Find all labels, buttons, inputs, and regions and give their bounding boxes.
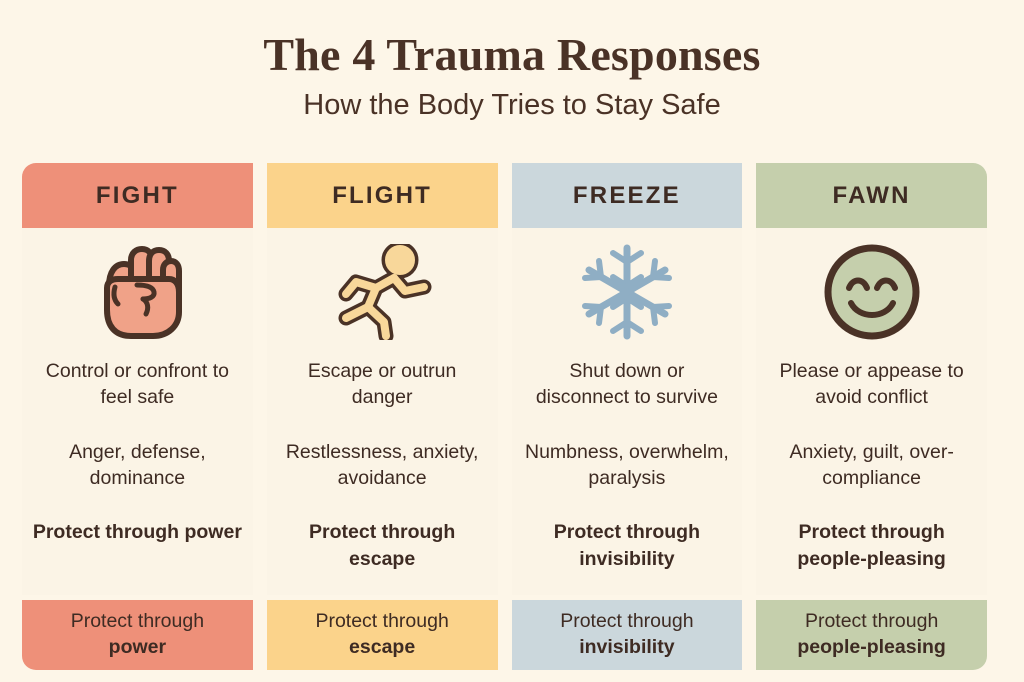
description-fawn: Please or appease to avoid conflict: [766, 358, 977, 411]
snowflake-icon: [577, 228, 677, 356]
footer-key-fight: power: [109, 635, 166, 661]
symptoms-fawn: Anxiety, guilt, over-compliance: [766, 439, 977, 492]
column-header-flight: FLIGHT: [267, 163, 498, 228]
description-flight: Escape or outrun danger: [277, 358, 488, 411]
protect-statement-fight: Protect through power: [33, 519, 242, 545]
footer-lead-flight: Protect through: [315, 609, 448, 635]
footer-key-fawn: people-pleasing: [797, 635, 945, 661]
column-freeze: FREEZE: [512, 163, 743, 670]
trauma-response-columns: FIGHT Con: [22, 163, 987, 670]
protect-statement-freeze: Protect through invisibility: [522, 519, 733, 572]
footer-key-flight: escape: [349, 635, 415, 661]
raised-fist-icon: [91, 228, 183, 356]
column-fawn: FAWN Please or appease to avoid conflict…: [756, 163, 987, 670]
column-header-fawn: FAWN: [756, 163, 987, 228]
column-flight: FLIGHT: [267, 163, 498, 670]
column-fight: FIGHT Con: [22, 163, 253, 670]
running-person-icon: [332, 228, 432, 356]
description-freeze: Shut down or disconnect to survive: [522, 358, 733, 411]
column-footer-flight: Protect through escape: [267, 600, 498, 670]
column-header-fight: FIGHT: [22, 163, 253, 228]
footer-lead-freeze: Protect through: [560, 609, 693, 635]
footer-key-freeze: invisibility: [579, 635, 674, 661]
infographic-header: The 4 Trauma Responses How the Body Trie…: [0, 0, 1024, 122]
description-fight: Control or confront to feel safe: [32, 358, 243, 411]
footer-lead-fawn: Protect through: [805, 609, 938, 635]
column-footer-fight: Protect through power: [22, 600, 253, 670]
column-body-fight: Control or confront to feel safe Anger, …: [22, 228, 253, 595]
smiling-face-icon: [821, 228, 923, 356]
page-title: The 4 Trauma Responses: [0, 0, 1024, 80]
symptoms-fight: Anger, defense, dominance: [32, 439, 243, 492]
column-body-fawn: Please or appease to avoid conflict Anxi…: [756, 228, 987, 595]
protect-statement-flight: Protect through escape: [277, 519, 488, 572]
column-header-freeze: FREEZE: [512, 163, 743, 228]
symptoms-flight: Restlessness, anxiety, avoidance: [277, 439, 488, 492]
protect-statement-fawn: Protect through people-pleasing: [766, 519, 977, 572]
page-subtitle: How the Body Tries to Stay Safe: [0, 80, 1024, 122]
symptoms-freeze: Numbness, overwhelm, paralysis: [522, 439, 733, 492]
column-footer-freeze: Protect through invisibility: [512, 600, 743, 670]
footer-lead-fight: Protect through: [71, 609, 204, 635]
column-body-flight: Escape or outrun danger Restlessness, an…: [267, 228, 498, 595]
column-footer-fawn: Protect through people-pleasing: [756, 600, 987, 670]
column-body-freeze: Shut down or disconnect to survive Numbn…: [512, 228, 743, 595]
